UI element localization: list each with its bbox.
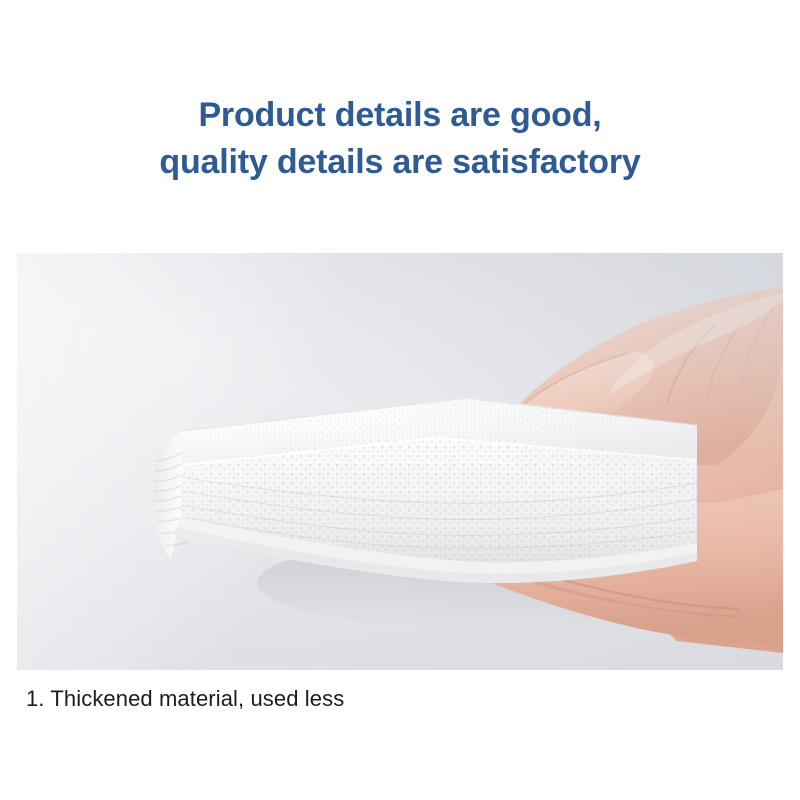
product-detail-card: Product details are good, quality detail… — [0, 0, 800, 800]
page-title-line-2: quality details are satisfactory — [0, 139, 800, 186]
feature-caption: 1. Thickened material, used less — [26, 686, 344, 712]
page-title: Product details are good, quality detail… — [0, 92, 800, 186]
product-photo — [17, 253, 783, 670]
page-title-line-1: Product details are good, — [0, 92, 800, 139]
tissue-stack — [137, 391, 697, 603]
